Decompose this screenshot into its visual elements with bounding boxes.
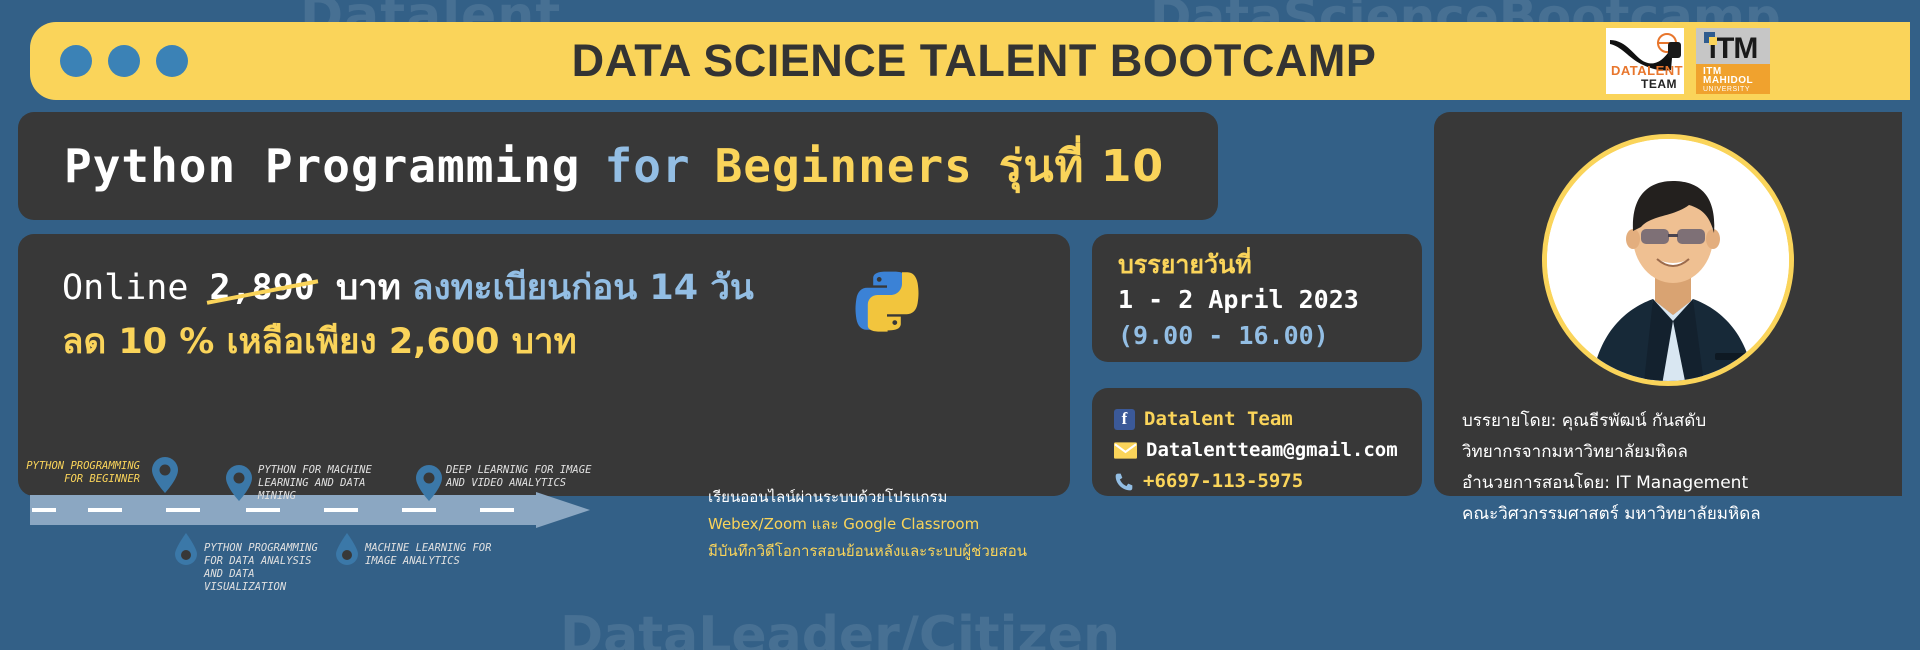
contact-facebook-row[interactable]: f Datalent Team: [1114, 404, 1422, 435]
contact-panel: f Datalent Team Datalentteam@gmail.com +…: [1092, 388, 1422, 496]
roadmap-label-4: MACHINE LEARNING FOR IMAGE ANALYTICS: [365, 542, 515, 568]
course-title-part3: Beginners: [715, 139, 973, 193]
page-title: DATA SCIENCE TALENT BOOTCAMP: [188, 35, 1760, 87]
contact-email-row[interactable]: Datalentteam@gmail.com: [1114, 435, 1422, 466]
contact-phone: +6697-113-5975: [1143, 466, 1303, 497]
datalent-logo: DATALENT TEAM: [1606, 28, 1684, 94]
itm-logo-bottom: ITM MAHIDOL UNIVERSITY: [1696, 64, 1770, 94]
online-note-line2: Webex/Zoom และ Google Classroom: [708, 511, 1048, 538]
price-condition: ลงทะเบียนก่อน 14 วัน: [412, 268, 754, 308]
header-bar: DATA SCIENCE TALENT BOOTCAMP DATALENT TE…: [30, 22, 1910, 100]
header-dots: [60, 45, 188, 77]
itm-square-yellow-icon: [1709, 37, 1717, 45]
poster-root: Datalent DataScienceBootcamp DataLeader/…: [0, 0, 1920, 650]
roadmap-label-5: DEEP LEARNING FOR IMAGE AND VIDEO ANALYT…: [446, 464, 616, 490]
roadmap-label-2: PYTHON PROGRAMMING FOR DATA ANALYSIS AND…: [204, 542, 334, 594]
logo-group: DATALENT TEAM iTM ITM MAHIDOL UNIVERSITY: [1606, 28, 1770, 94]
itm-line3: UNIVERSITY: [1703, 85, 1770, 94]
speaker-portrait-illustration: [1547, 139, 1794, 386]
itm-logo-top: iTM: [1696, 28, 1770, 64]
phone-icon: [1114, 472, 1134, 492]
schedule-heading: บรรยายวันที่: [1118, 248, 1422, 282]
dot-icon-2: [108, 45, 140, 77]
price-old: 2,890: [210, 268, 315, 308]
roadmap-label-3: PYTHON FOR MACHINE LEARNING AND DATA MIN…: [258, 464, 398, 503]
watermark-bottom: DataLeader/Citizen: [560, 606, 1120, 650]
speaker-line-3: อำนวยการสอนโดย: IT Management: [1462, 468, 1902, 499]
roadmap-pin-icon-1: [152, 457, 178, 493]
online-note-line1: เรียนออนไลน์ผ่านระบบด้วยโปรแกรม: [708, 484, 1048, 511]
speaker-line-1: บรรยายโดย: คุณธีรพัฒน์ กันสดับ: [1462, 406, 1902, 437]
python-logo-icon: [854, 268, 920, 334]
dot-icon-3: [156, 45, 188, 77]
datalent-logo-text: DATALENT: [1611, 63, 1683, 78]
itm-logo: iTM ITM MAHIDOL UNIVERSITY: [1696, 28, 1770, 94]
schedule-panel: บรรยายวันที่ 1 - 2 April 2023 (9.00 - 16…: [1092, 234, 1422, 362]
speaker-line-2: วิทยากรจากมหาวิทยาลัยมหิดล: [1462, 437, 1902, 468]
course-title-part2: for: [605, 139, 691, 193]
schedule-time: (9.00 - 16.00): [1118, 318, 1422, 354]
roadmap-drop-icon-2: [175, 533, 197, 565]
roadmap-pin-icon-3: [226, 465, 252, 501]
facebook-icon: f: [1114, 409, 1135, 430]
online-note-line3: มีบันทึกวิดีโอการสอนย้อนหลังและระบบผู้ช่…: [708, 538, 1048, 565]
speaker-panel: บรรยายโดย: คุณธีรพัฒน์ กันสดับ วิทยากรจา…: [1434, 112, 1902, 496]
speaker-info: บรรยายโดย: คุณธีรพัฒน์ กันสดับ วิทยากรจา…: [1462, 406, 1902, 530]
contact-facebook: Datalent Team: [1144, 404, 1293, 435]
course-title-part1: Python Programming: [64, 139, 581, 193]
price-prefix: Online: [62, 268, 188, 308]
avatar: [1542, 134, 1794, 386]
online-note: เรียนออนไลน์ผ่านระบบด้วยโปรแกรม Webex/Zo…: [708, 484, 1048, 565]
dot-icon-1: [60, 45, 92, 77]
course-title-edition: รุ่นที่ 10: [999, 131, 1164, 201]
price-discount: ลด 10 % เหลือเพียง 2,600 บาท: [62, 322, 577, 362]
schedule-dates: 1 - 2 April 2023: [1118, 282, 1422, 318]
itm-line2: MAHIDOL: [1703, 76, 1770, 85]
datalent-logo-subtext: TEAM: [1641, 77, 1677, 91]
price-unit: บาท: [336, 268, 401, 308]
roadmap: PYTHON PROGRAMMING FOR BEGINNER PYTHON P…: [18, 424, 718, 604]
speaker-line-4: คณะวิศวกรรมศาสตร์ มหาวิทยาลัยมหิดล: [1462, 499, 1902, 530]
database-icon: [1668, 42, 1681, 58]
roadmap-drop-icon-4: [336, 533, 358, 565]
contact-email: Datalentteam@gmail.com: [1146, 435, 1398, 466]
price-roadmap-panel: Online 2,890 บาท ลงทะเบียนก่อน 14 วัน ลด…: [18, 234, 1070, 496]
roadmap-label-1: PYTHON PROGRAMMING FOR BEGINNER: [20, 460, 140, 486]
contact-phone-row[interactable]: +6697-113-5975: [1114, 466, 1422, 497]
email-icon: [1114, 442, 1137, 459]
roadmap-pin-icon-5: [416, 465, 442, 501]
course-title-panel: Python Programming for Beginners รุ่นที่…: [18, 112, 1218, 220]
